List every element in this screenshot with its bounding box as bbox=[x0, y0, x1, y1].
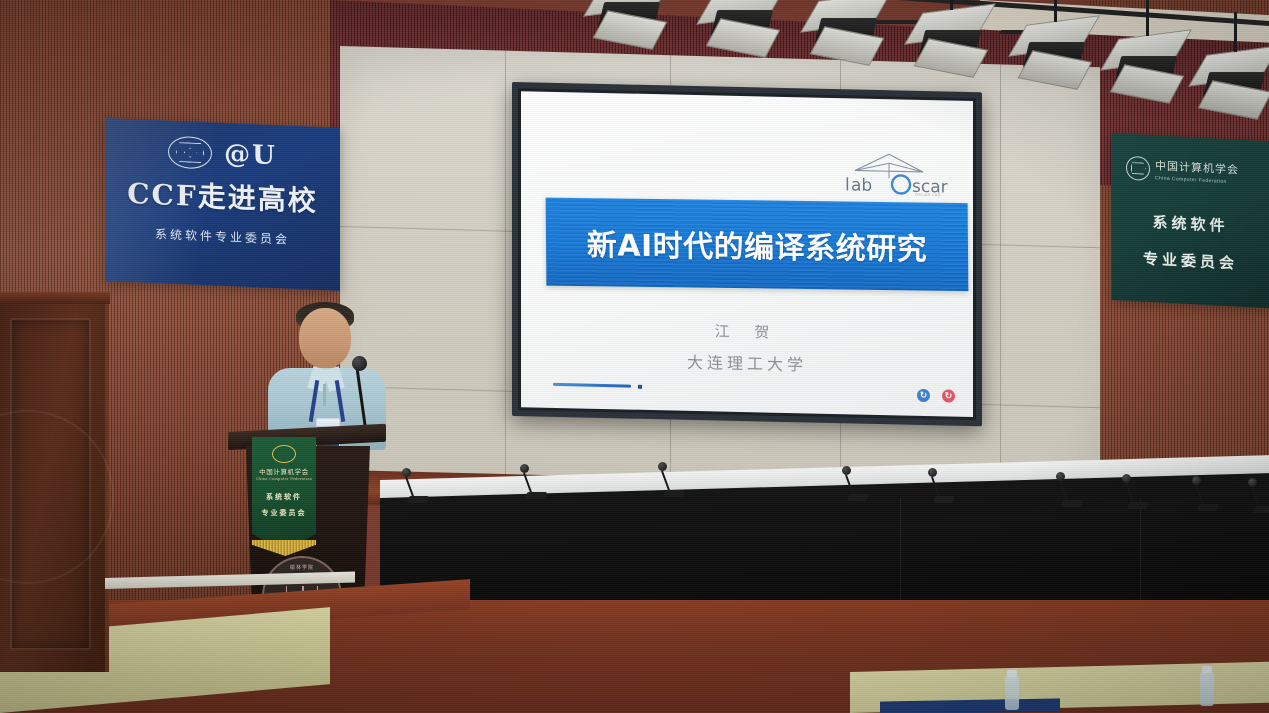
podium-microphone-head bbox=[352, 356, 367, 371]
slide-status-icons: ↻ ↻ bbox=[917, 389, 955, 403]
banner-subtitle: 系统软件专业委员会 bbox=[105, 223, 340, 250]
lab-oscar-logo: ab l scar OSCAR LAB bbox=[843, 150, 959, 197]
hall-door[interactable] bbox=[0, 300, 109, 672]
slide-title-band: 新AI时代的编译系统研究 bbox=[546, 198, 969, 292]
door-arc-detail bbox=[0, 410, 114, 584]
pennant-line2: 专业委员会 bbox=[252, 508, 316, 518]
bottle-cap bbox=[1202, 666, 1212, 673]
lecture-hall-photo: @U CCF走进高校 系统软件专业委员会 中国计算机学会 China Compu… bbox=[0, 0, 1269, 713]
water-bottle bbox=[1200, 672, 1214, 706]
foreground-seat-back bbox=[880, 698, 1060, 713]
ccf-pennant: 中国计算机学会 China Computer Federation 系统软件 专… bbox=[252, 437, 316, 552]
ccf-logo-icon bbox=[1126, 156, 1150, 181]
water-bottle bbox=[1005, 676, 1019, 710]
slide-progress-bar bbox=[553, 383, 631, 388]
projection-screen: ab l scar OSCAR LAB 新AI时代的编译系统研究 江 贺 大连理… bbox=[512, 82, 982, 426]
svg-text:l: l bbox=[845, 175, 850, 195]
svg-text:ab: ab bbox=[851, 175, 872, 195]
banner-ccf-tc-system-software: 中国计算机学会 China Computer Federation 系统软件 专… bbox=[1112, 133, 1269, 308]
speaker-head bbox=[299, 308, 351, 368]
screen-bezel: ab l scar OSCAR LAB 新AI时代的编译系统研究 江 贺 大连理… bbox=[518, 88, 976, 420]
svg-text:OSCAR LAB: OSCAR LAB bbox=[915, 193, 941, 197]
ccf-logo-icon bbox=[168, 136, 212, 170]
banner-right-line1: 系统软件 bbox=[1112, 209, 1269, 238]
banner-main-title: CCF走进高校 bbox=[105, 171, 340, 221]
sync-icon: ↻ bbox=[942, 389, 955, 402]
presenter-name: 江 贺 bbox=[521, 316, 973, 347]
pennant-org-en: China Computer Federation bbox=[252, 477, 316, 481]
slide-presenter-block: 江 贺 大连理工大学 bbox=[521, 316, 973, 379]
door-header-trim bbox=[0, 292, 110, 304]
university-name-cn: 榆林学院 bbox=[290, 564, 314, 571]
slide-title-text: 新AI时代的编译系统研究 bbox=[587, 220, 928, 268]
speaker-shirt-placket bbox=[323, 384, 326, 406]
banner-at-u-text: @U bbox=[224, 139, 277, 171]
bottle-cap bbox=[1007, 670, 1017, 677]
pennant-line1: 系统软件 bbox=[252, 492, 316, 502]
presenter-affiliation: 大连理工大学 bbox=[521, 345, 973, 379]
presentation-slide: ab l scar OSCAR LAB 新AI时代的编译系统研究 江 贺 大连理… bbox=[521, 91, 973, 417]
lab-oscar-logo-icon: ab l scar OSCAR LAB bbox=[843, 150, 959, 197]
ccf-org-name-cn: 中国计算机学会 bbox=[1155, 157, 1239, 177]
slide-progress-dot bbox=[638, 385, 642, 389]
ccf-logo-icon bbox=[272, 445, 296, 463]
refresh-icon: ↻ bbox=[917, 389, 930, 402]
banner-right-line2: 专业委员会 bbox=[1112, 246, 1269, 275]
banner-ccf-campus-tour: @U CCF走进高校 系统软件专业委员会 bbox=[105, 118, 340, 291]
pennant-org-cn: 中国计算机学会 bbox=[252, 466, 316, 476]
